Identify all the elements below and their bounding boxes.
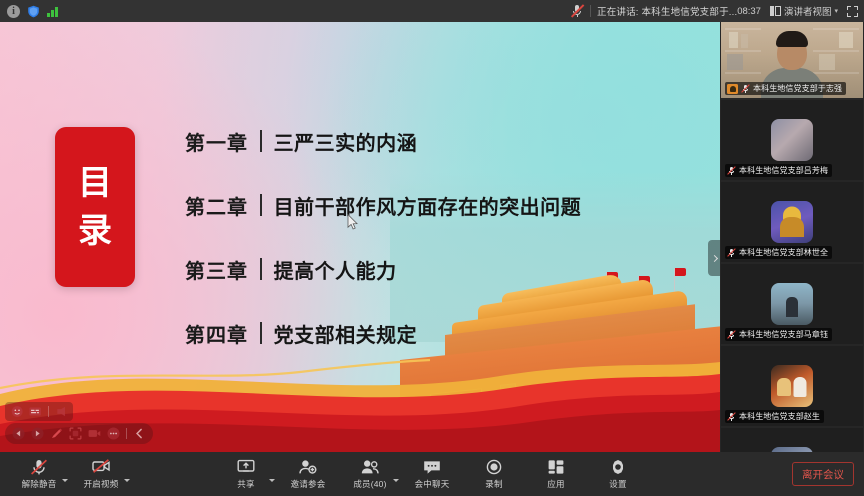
toc-divider (260, 194, 262, 216)
divider (48, 406, 49, 417)
prev-slide-icon[interactable] (12, 427, 25, 440)
participant-name: 本科生地信党支部林世全 (739, 247, 828, 258)
chat-icon (423, 459, 441, 475)
toc-number: 第一章 (185, 127, 248, 156)
top-bar-right: 08:37 演讲者视图 ▾ (737, 0, 858, 22)
unmute-label: 解除静音 (22, 478, 57, 490)
chevron-down-icon: ▾ (834, 7, 838, 15)
view-mode-label: 演讲者视图 (784, 4, 832, 18)
top-bar: i 正在讲话: 本科生地信党支部于... 08:37 演讲者视图 ▾ (0, 0, 864, 22)
settings-gear-icon (609, 459, 627, 475)
signal-strength-icon[interactable] (47, 6, 58, 17)
participant-label: 本科生地信党支部吕芳梅 (725, 164, 832, 177)
person-hair (776, 31, 808, 47)
participants-button[interactable]: 成员(40) (339, 452, 401, 496)
presentation-slide: 目 录 第一章 三严三实的内涵 第二章 目前干部作风方面存在的突出问题 第三章 (0, 22, 720, 452)
apps-icon (547, 459, 565, 475)
participant-tile[interactable]: 本科生地信党支部马章钰 (721, 264, 863, 344)
apps-button[interactable]: 应用 (525, 452, 587, 496)
collapse-icon[interactable] (133, 427, 146, 440)
bottom-toolbar-left: 解除静音 开启视频 (8, 452, 132, 496)
toc-row: 第二章 目前干部作风方面存在的突出问题 (185, 189, 685, 221)
toc-badge-char-1: 目 (78, 166, 112, 200)
fullscreen-icon[interactable] (847, 6, 858, 17)
speaker-view-icon (770, 6, 781, 16)
participant-label: 本科生地信党支部于志强 (725, 82, 846, 95)
bottom-toolbar-center: 共享 邀请参会 (215, 452, 649, 496)
participant-tile[interactable]: 本科生地信党支部林世全 (721, 182, 863, 262)
record-button[interactable]: 录制 (463, 452, 525, 496)
participant-video-rail[interactable]: 本科生地信党支部于志强 本科生地信党支部吕芳梅 本科生地信 (720, 14, 864, 452)
host-badge-icon (727, 84, 738, 94)
start-video-button[interactable]: 开启视频 (70, 452, 132, 496)
mic-muted-icon (727, 166, 736, 175)
apps-label: 应用 (547, 478, 564, 490)
collapse-panel-handle[interactable] (708, 240, 720, 276)
settings-button[interactable]: 设置 (587, 452, 649, 496)
more-icon[interactable] (107, 427, 120, 440)
divider (590, 5, 591, 17)
bottom-toolbar: 解除静音 开启视频 (0, 452, 864, 496)
laser-pointer-icon[interactable] (55, 405, 67, 418)
participant-name: 本科生地信党支部马章钰 (739, 329, 828, 340)
speaking-indicator: 正在讲话: 本科生地信党支部于... (570, 0, 737, 22)
toc-divider (260, 258, 262, 280)
participant-name: 本科生地信党支部赵生 (739, 411, 820, 422)
mic-muted-icon (30, 459, 48, 475)
participant-name: 本科生地信党支部于志强 (753, 83, 842, 94)
toc-number: 第二章 (185, 191, 248, 220)
chevron-up-icon[interactable] (269, 479, 275, 482)
invite-label: 邀请参会 (291, 478, 326, 490)
mic-muted-icon (727, 248, 736, 257)
toc-number: 第三章 (185, 255, 248, 284)
mouse-cursor (347, 214, 358, 230)
avatar-placeholder (721, 428, 863, 452)
pen-icon[interactable] (50, 427, 63, 440)
settings-label: 设置 (609, 478, 626, 490)
meeting-window: i 正在讲话: 本科生地信党支部于... 08:37 演讲者视图 ▾ (0, 0, 864, 496)
participant-label: 本科生地信党支部林世全 (725, 246, 832, 259)
info-icon[interactable]: i (7, 5, 20, 18)
participant-label: 本科生地信党支部马章钰 (725, 328, 832, 341)
zoom-icon[interactable] (69, 427, 82, 440)
participant-name: 本科生地信党支部吕芳梅 (739, 165, 828, 176)
avatar (771, 283, 813, 325)
toc-title: 三严三实的内涵 (274, 127, 418, 156)
toc-title: 提高个人能力 (274, 255, 397, 284)
record-icon (485, 459, 503, 475)
chevron-right-icon (710, 254, 717, 261)
toc-row: 第一章 三严三实的内涵 (185, 125, 685, 157)
chat-button[interactable]: 会中聊天 (401, 452, 463, 496)
participants-icon (361, 459, 379, 475)
toc-badge: 目 录 (55, 127, 135, 287)
leave-meeting-button[interactable]: 离开会议 (792, 462, 854, 486)
chevron-up-icon[interactable] (62, 479, 68, 482)
camera-off-icon (92, 459, 110, 475)
participant-tile[interactable] (721, 428, 863, 452)
mic-muted-icon (727, 412, 736, 421)
chevron-up-icon[interactable] (124, 479, 130, 482)
mic-muted-icon (741, 84, 750, 93)
avatar (771, 119, 813, 161)
participant-label: 本科生地信党支部赵生 (725, 410, 824, 423)
shield-icon[interactable] (27, 5, 40, 18)
presentation-controls-row-top[interactable] (5, 402, 73, 421)
participants-label: 成员(40) (353, 478, 386, 490)
mic-muted-icon (570, 4, 584, 18)
view-mode-switch[interactable]: 演讲者视图 ▾ (770, 4, 838, 18)
video-icon[interactable] (88, 427, 101, 440)
invite-icon (299, 459, 317, 475)
avatar (771, 201, 813, 243)
top-bar-status-icons: i (0, 5, 58, 18)
toc-divider (260, 130, 262, 152)
chevron-up-icon[interactable] (393, 479, 399, 482)
subtitles-icon[interactable] (29, 405, 41, 418)
avatar (771, 365, 813, 407)
share-screen-button[interactable]: 共享 (215, 452, 277, 496)
mic-muted-icon (727, 330, 736, 339)
record-label: 录制 (485, 478, 502, 490)
shared-content-stage[interactable]: 目 录 第一章 三严三实的内涵 第二章 目前干部作风方面存在的突出问题 第三章 (0, 22, 720, 452)
chat-label: 会中聊天 (415, 478, 450, 490)
participant-tile[interactable]: 本科生地信党支部吕芳梅 (721, 100, 863, 180)
divider (126, 428, 127, 439)
emoji-icon[interactable] (11, 405, 23, 418)
unmute-button[interactable]: 解除静音 (8, 452, 70, 496)
next-slide-icon[interactable] (31, 427, 44, 440)
presentation-controls[interactable] (5, 402, 153, 444)
participant-tile-active[interactable]: 本科生地信党支部于志强 (721, 18, 863, 98)
invite-button[interactable]: 邀请参会 (277, 452, 339, 496)
participant-tile[interactable]: 本科生地信党支部赵生 (721, 346, 863, 426)
clock: 08:37 (737, 6, 761, 17)
toc-title: 目前干部作风方面存在的突出问题 (274, 191, 582, 220)
start-video-label: 开启视频 (84, 478, 119, 490)
speaking-text: 正在讲话: 本科生地信党支部于... (597, 4, 737, 18)
share-screen-icon (237, 459, 255, 475)
presentation-controls-row-bottom[interactable] (5, 423, 153, 444)
toc-badge-char-2: 录 (78, 214, 112, 248)
share-label: 共享 (237, 478, 254, 490)
